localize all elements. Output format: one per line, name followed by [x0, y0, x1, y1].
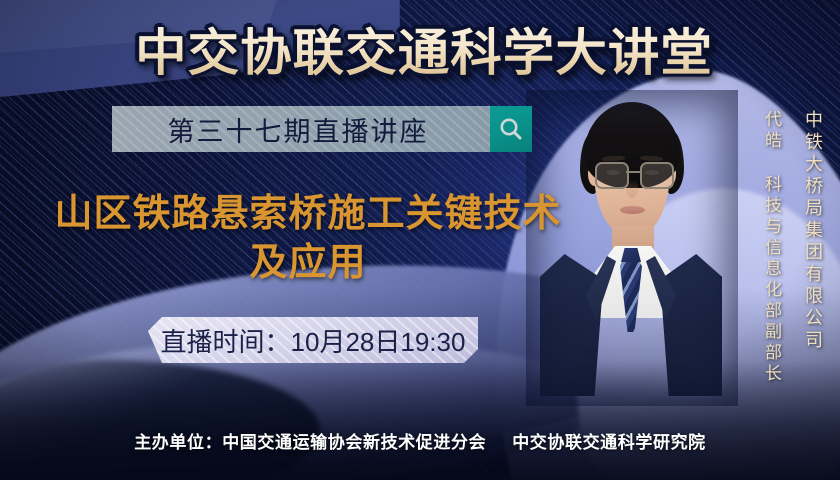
search-icon-box[interactable] — [490, 106, 532, 152]
main-title: 中交协联交通科学大讲堂 — [131, 16, 716, 82]
footer-organizer-1: 中国交通运输协会新技术促进分会 — [222, 433, 486, 452]
speaker-portrait — [540, 96, 722, 396]
necktie — [620, 254, 642, 332]
glasses-bridge — [626, 171, 640, 173]
footer-organizer-2: 中交协联交通科学研究院 — [512, 433, 706, 452]
subtitle-band-background: 第三十七期直播讲座 — [112, 106, 490, 152]
live-time-text: 直播时间：10月28日19:30 — [161, 322, 466, 359]
topic-line-2: 及应用 — [52, 239, 564, 288]
nose — [626, 180, 638, 198]
lens-left — [595, 162, 629, 189]
webinar-poster: 中交协联交通科学大讲堂 第三十七期直播讲座 山区铁路悬索桥施工关键技术 及应用 … — [0, 0, 840, 480]
live-time-band: 直播时间：10月28日19:30 — [148, 317, 478, 363]
speaker-name-title: 代皓 科技与信息化部副部长 — [763, 110, 780, 385]
lens-right — [640, 162, 674, 189]
topic-line-1: 山区铁路悬索桥施工关键技术 — [54, 193, 561, 235]
subtitle-text: 第三十七期直播讲座 — [112, 106, 490, 152]
footer-organizer-label: 主办单位： — [134, 433, 222, 452]
topic-title: 山区铁路悬索桥施工关键技术 及应用 — [52, 190, 564, 287]
mouth — [620, 206, 645, 214]
speaker-company: 中铁大桥局集团有限公司 — [804, 110, 822, 352]
subtitle-band: 第三十七期直播讲座 — [112, 106, 532, 152]
footer-organizers: 主办单位：中国交通运输协会新技术促进分会中交协联交通科学研究院 — [0, 428, 840, 453]
search-icon — [498, 116, 524, 142]
